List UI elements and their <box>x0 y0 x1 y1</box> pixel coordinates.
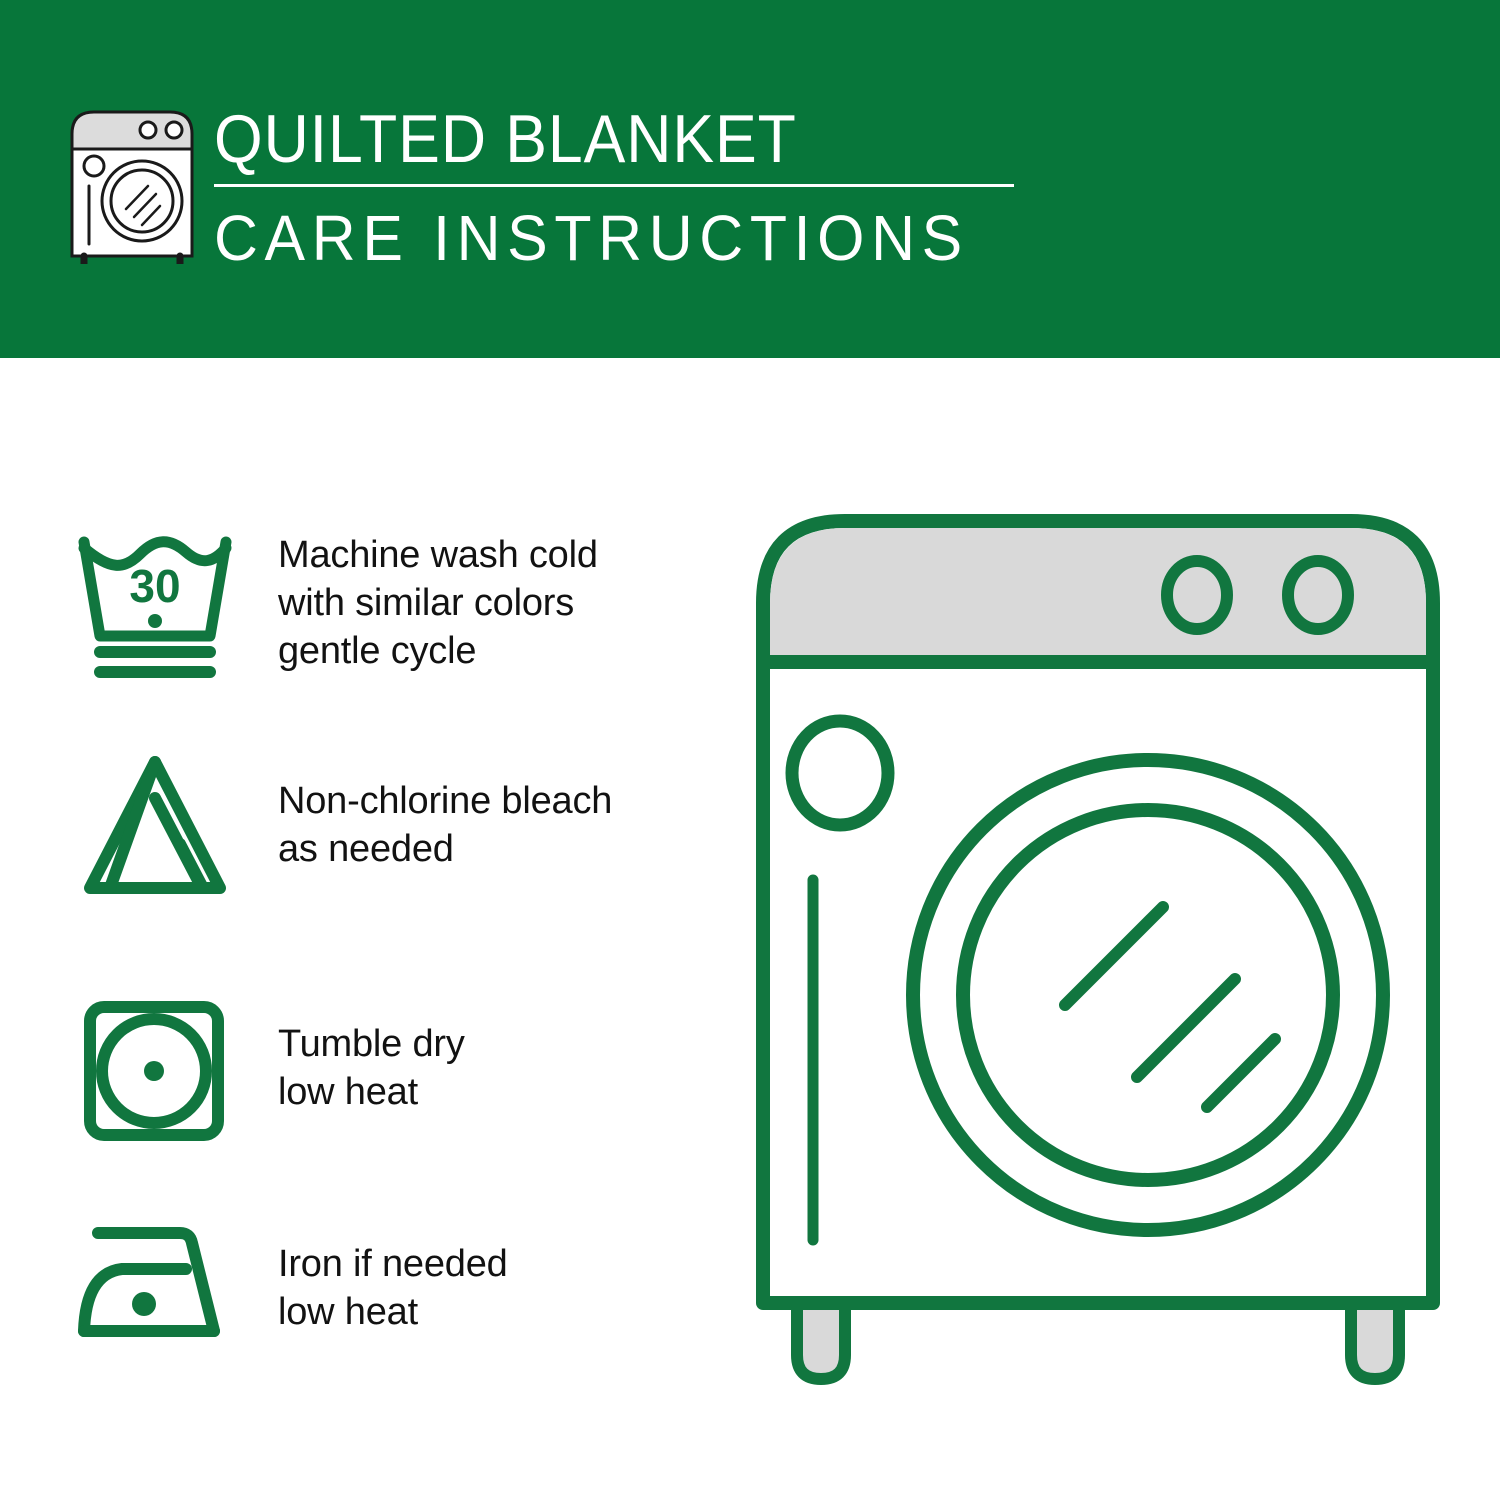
non-chlorine-bleach-triangle-icon <box>62 740 248 910</box>
care-instruction-list: 30 Machine wash cold with similar colors… <box>0 358 740 1500</box>
care-label-line: as needed <box>278 825 612 873</box>
care-label-line: Non-chlorine bleach <box>278 777 612 825</box>
care-item-machine-wash: 30 Machine wash cold with similar colors… <box>0 518 700 688</box>
page-title: QUILTED BLANKET <box>214 100 959 178</box>
care-label-line: Machine wash cold <box>278 531 598 579</box>
tumble-dry-low-heat-icon <box>62 983 248 1153</box>
care-item-bleach: Non-chlorine bleach as needed <box>0 740 700 910</box>
care-item-tumble-dry: Tumble dry low heat <box>0 983 700 1153</box>
wash-temperature-value: 30 <box>129 560 180 612</box>
care-label-line: Tumble dry <box>278 1020 465 1068</box>
care-item-label: Tumble dry low heat <box>278 1020 465 1116</box>
care-instructions-page: QUILTED BLANKET CARE INSTRUCTIONS 3 <box>0 0 1500 1500</box>
care-label-line: Iron if needed <box>278 1240 508 1288</box>
care-item-label: Iron if needed low heat <box>278 1240 508 1336</box>
care-label-line: gentle cycle <box>278 627 598 675</box>
control-knob-left <box>1167 561 1227 629</box>
care-item-iron: Iron if needed low heat <box>0 1203 700 1373</box>
care-label-line: low heat <box>278 1288 508 1336</box>
header-text-block: QUILTED BLANKET CARE INSTRUCTIONS <box>214 100 1024 275</box>
page-subtitle: CARE INSTRUCTIONS <box>214 201 984 275</box>
wash-tub-30-gentle-icon: 30 <box>62 518 248 688</box>
care-label-line: with similar colors <box>278 579 598 627</box>
control-knob-right <box>1288 561 1348 629</box>
header-banner: QUILTED BLANKET CARE INSTRUCTIONS <box>0 0 1500 358</box>
care-item-label: Non-chlorine bleach as needed <box>278 777 612 873</box>
title-divider <box>214 184 1014 187</box>
iron-low-heat-icon <box>62 1203 248 1373</box>
washing-machine-illustration <box>745 495 1455 1425</box>
indicator-light <box>792 721 888 825</box>
washing-machine-logo-icon <box>62 104 202 264</box>
care-label-line: low heat <box>278 1068 465 1116</box>
care-item-label: Machine wash cold with similar colors ge… <box>278 531 598 675</box>
drum-inner-ring <box>963 810 1333 1180</box>
